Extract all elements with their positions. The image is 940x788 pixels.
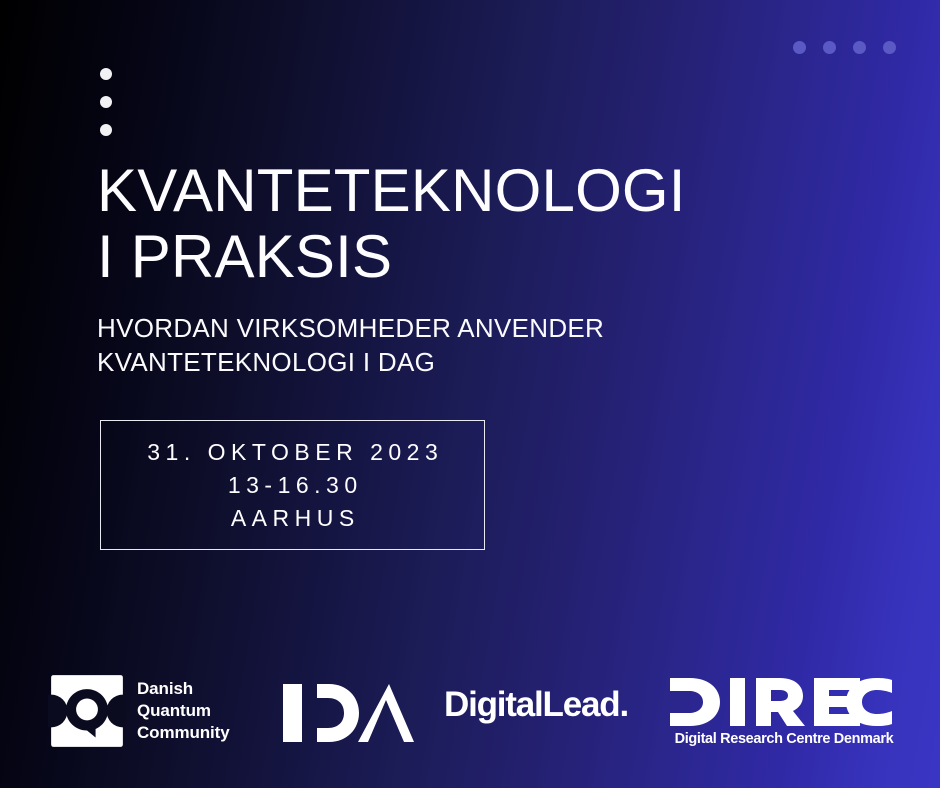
dot-icon bbox=[823, 41, 836, 54]
dot-icon bbox=[883, 41, 896, 54]
direc-tagline: Digital Research Centre Denmark bbox=[670, 731, 898, 747]
logo-danish-quantum-community: Danish Quantum Community bbox=[48, 672, 230, 750]
danish-quantum-community-label: Danish Quantum Community bbox=[137, 678, 230, 743]
event-date: 31. OKTOBER 2023 bbox=[142, 439, 443, 466]
horizontal-dots-decoration bbox=[793, 41, 896, 54]
logo-direc: Digital Research Centre Denmark bbox=[670, 678, 898, 747]
event-poster: KVANTETEKNOLOGI I PRAKSIS HVORDAN VIRKSO… bbox=[0, 0, 940, 788]
dot-icon bbox=[853, 41, 866, 54]
dot-icon bbox=[100, 124, 112, 136]
event-time: 13-16.30 bbox=[222, 472, 362, 499]
poster-headline: KVANTETEKNOLOGI I PRAKSIS bbox=[97, 158, 837, 290]
dot-icon bbox=[100, 68, 112, 80]
event-details-box: 31. OKTOBER 2023 13-16.30 AARHUS bbox=[100, 420, 485, 550]
direc-mark-icon bbox=[670, 678, 892, 726]
dot-icon bbox=[100, 96, 112, 108]
digitallead-label: DigitalLead. bbox=[444, 687, 628, 722]
dot-icon bbox=[793, 41, 806, 54]
ida-mark-icon bbox=[281, 682, 414, 744]
event-location: AARHUS bbox=[225, 505, 359, 532]
logo-ida bbox=[281, 682, 414, 744]
logo-digitallead: DigitalLead. bbox=[444, 687, 628, 722]
danish-quantum-community-mark-icon bbox=[48, 672, 126, 750]
partner-logo-row: Danish Quantum Community DigitalLead. Di bbox=[0, 660, 940, 770]
poster-subtitle: HVORDAN VIRKSOMHEDER ANVENDER KVANTETEKN… bbox=[97, 312, 797, 380]
vertical-dots-decoration bbox=[100, 68, 112, 136]
